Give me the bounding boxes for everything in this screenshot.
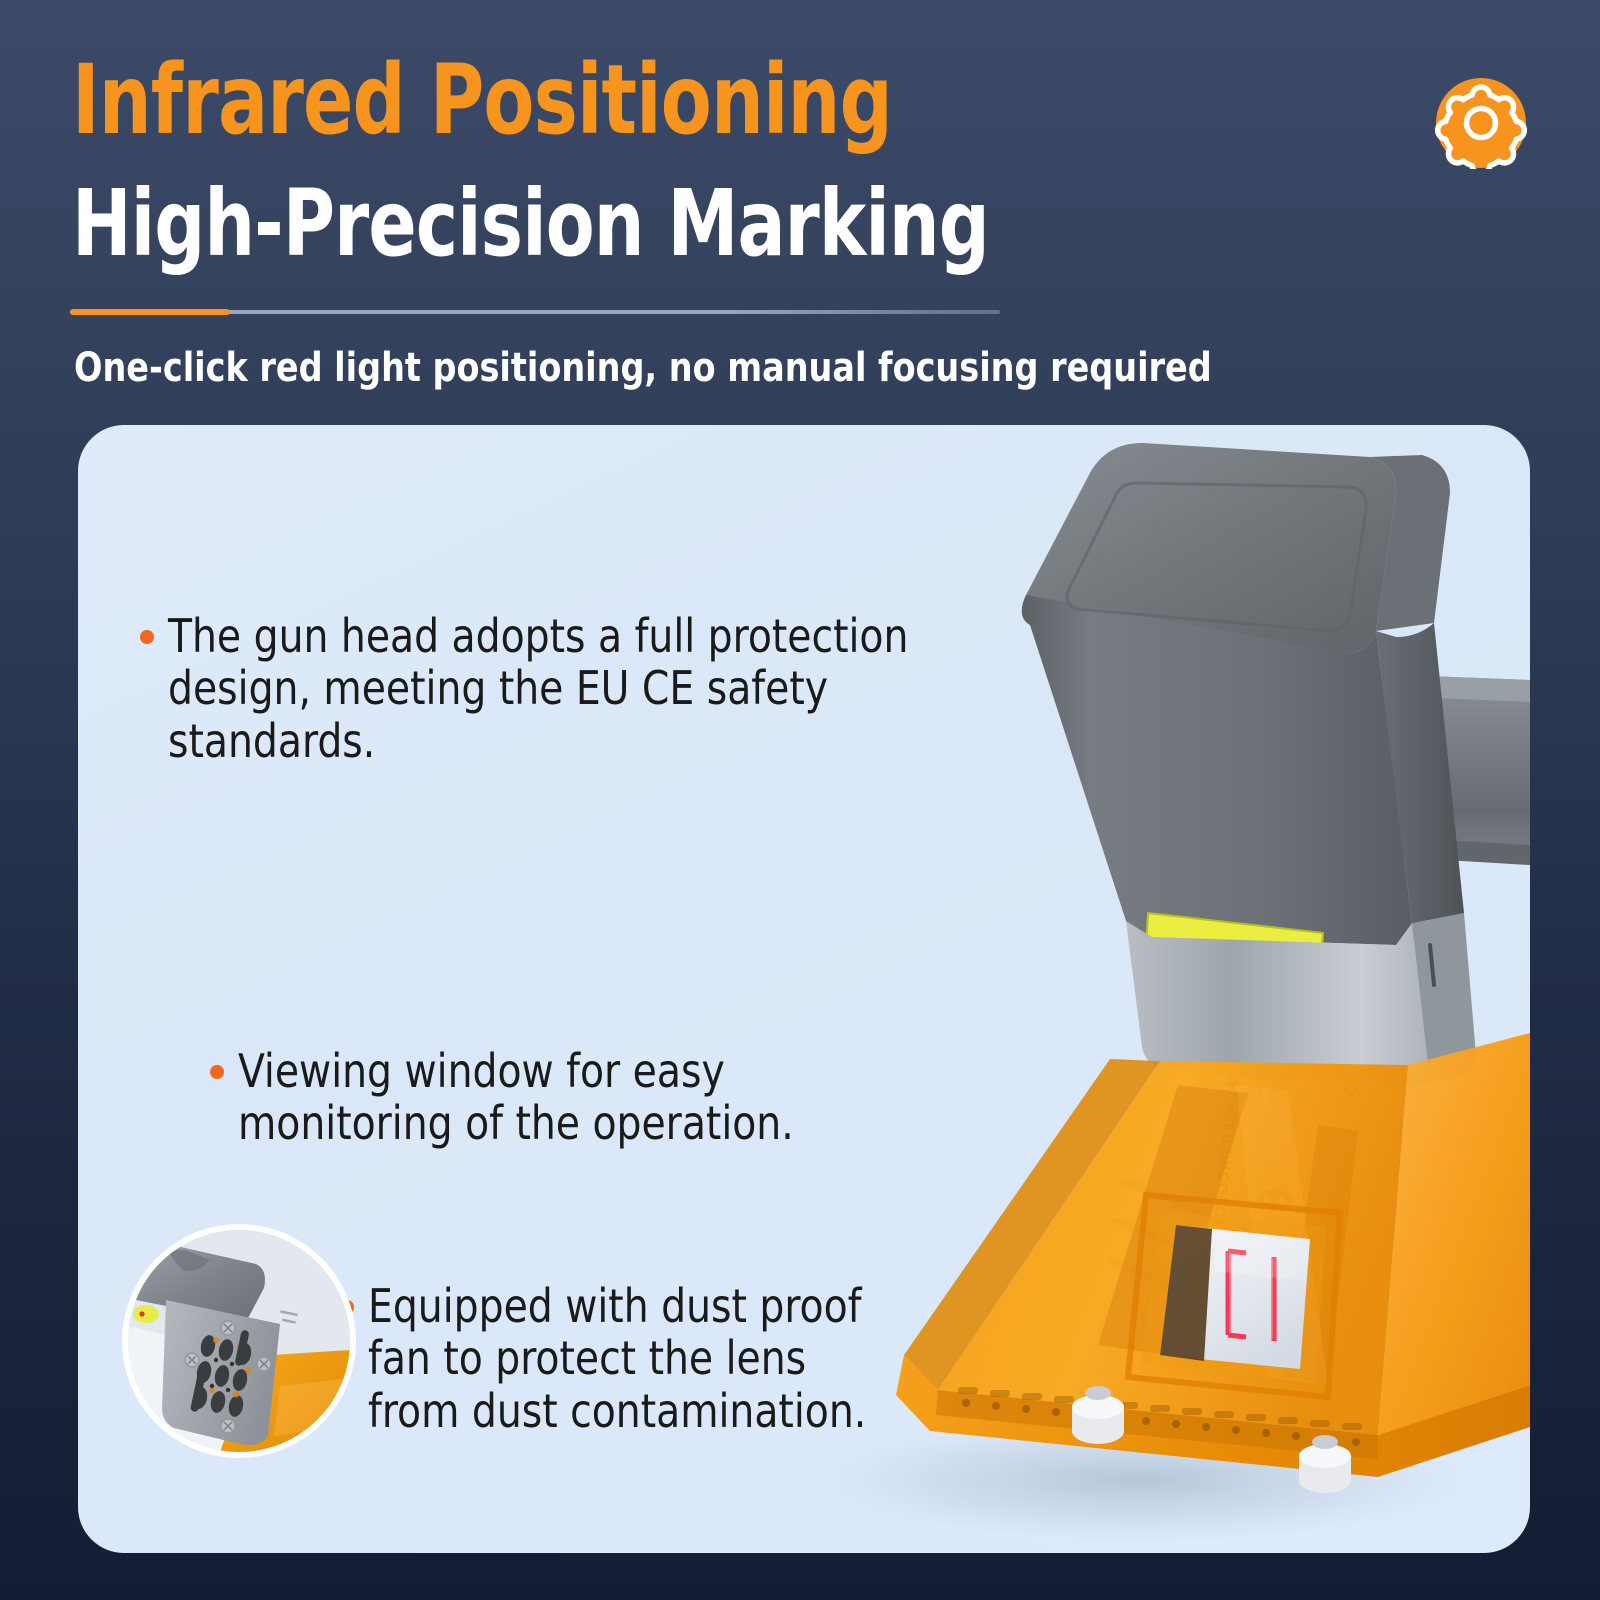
list-item: The gun head adopts a full protection de… [140, 610, 990, 767]
list-item-label: The gun head adopts a full protection de… [168, 610, 949, 767]
header-divider [70, 309, 1000, 315]
bullet-dot-icon [140, 630, 154, 644]
header-caption: One-click red light positioning, no manu… [74, 345, 1212, 391]
list-item-label: Viewing window for easy monitoring of th… [238, 1045, 876, 1150]
header-section: Infrared Positioning High-Precision Mark… [0, 0, 1600, 425]
gear-icon [1435, 77, 1527, 169]
bullet-dot-icon [210, 1065, 224, 1079]
divider-accent [70, 309, 230, 315]
page-title: Infrared Positioning [72, 52, 892, 148]
dust-proof-fan-closeup-photo [128, 1230, 350, 1452]
orange-safety-enclosure [896, 1033, 1530, 1493]
list-item: Viewing window for easy monitoring of th… [210, 1045, 910, 1150]
list-item-label: Equipped with dust proof fan to protect … [368, 1280, 873, 1437]
viewing-window [1160, 1225, 1310, 1369]
page-subtitle: High-Precision Marking [72, 178, 989, 270]
list-item: Equipped with dust proof fan to protect … [340, 1280, 900, 1437]
feature-card: CLASS IV LASER PRODUCT avoid direct eye … [78, 425, 1530, 1553]
